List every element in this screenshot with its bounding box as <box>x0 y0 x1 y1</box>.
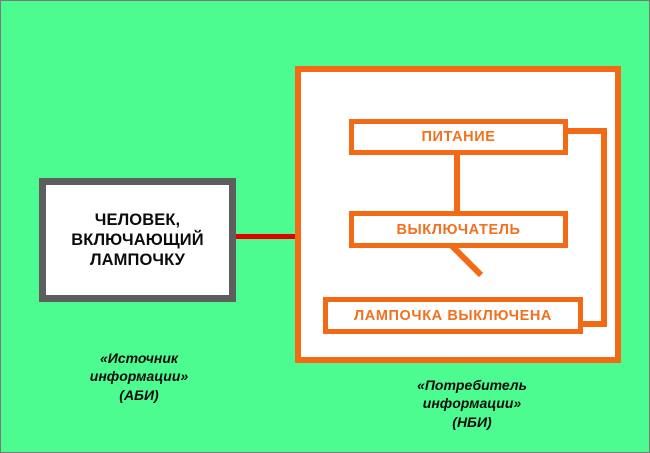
source-box: ЧЕЛОВЕК, ВКЛЮЧАЮЩИЙ ЛАМПОЧКУ <box>39 178 236 302</box>
consumer-caption: «Потребитель информации» (НБИ) <box>372 376 572 431</box>
wire-right-vertical <box>601 128 607 327</box>
diagram-canvas: ЧЕЛОВЕК, ВКЛЮЧАЮЩИЙ ЛАМПОЧКУ ПИТАНИЕ ВЫК… <box>0 0 650 453</box>
wire-lamp-right-stub <box>579 321 607 327</box>
lamp-box: ЛАМПОЧКА ВЫКЛЮЧЕНА <box>323 297 583 334</box>
lamp-box-label: ЛАМПОЧКА ВЫКЛЮЧЕНА <box>354 308 552 324</box>
wire-power-to-switch <box>454 153 460 213</box>
switch-box-label: ВЫКЛЮЧАТЕЛЬ <box>396 222 520 238</box>
power-box: ПИТАНИЕ <box>349 119 568 155</box>
source-box-label: ЧЕЛОВЕК, ВКЛЮЧАЮЩИЙ ЛАМПОЧКУ <box>71 210 203 270</box>
power-box-label: ПИТАНИЕ <box>421 129 495 145</box>
open-switch-blade-icon <box>445 241 491 281</box>
source-caption: «Источник информации» (АБИ) <box>49 349 229 404</box>
